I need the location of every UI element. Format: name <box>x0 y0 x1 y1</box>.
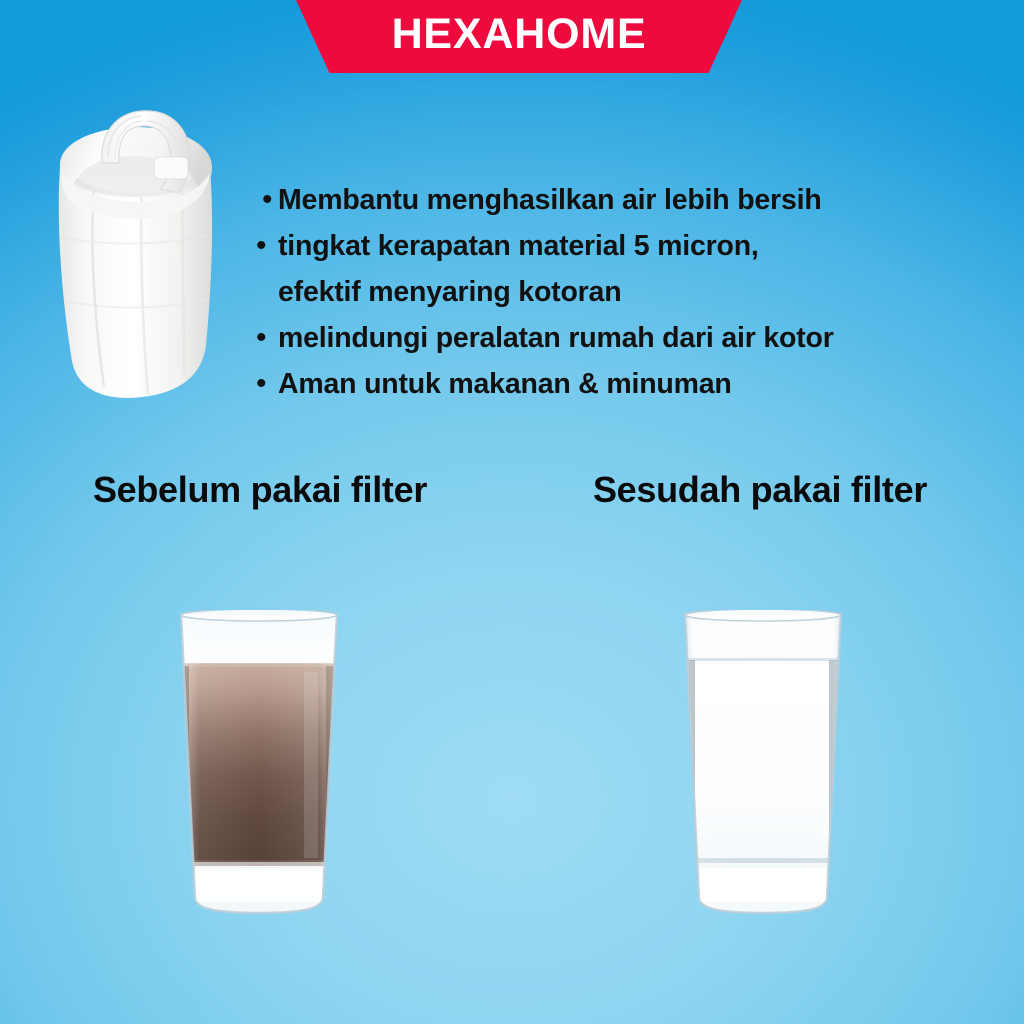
list-item-continuation: efektif menyaring kotoran <box>252 270 992 314</box>
bullet-icon: • <box>252 224 278 268</box>
list-item: • Aman untuk makanan & minuman <box>252 362 992 406</box>
caption-before-filter: Sebelum pakai filter <box>80 463 440 516</box>
list-item: • Membantu menghasilkan air lebih bersih <box>252 178 992 222</box>
glass-clean-water-icon <box>680 610 846 918</box>
feature-list: • Membantu menghasilkan air lebih bersih… <box>252 178 992 408</box>
filter-bag-icon <box>38 105 250 405</box>
caption-after-filter: Sesudah pakai filter <box>580 463 940 516</box>
bullet-icon: • <box>252 362 278 406</box>
header-banner: HEXAHOME <box>0 0 1024 76</box>
feature-text: tingkat kerapatan material 5 micron, <box>278 224 992 268</box>
glass-dirty-water-icon <box>176 610 342 918</box>
feature-text: efektif menyaring kotoran <box>278 270 992 314</box>
promo-poster: HEXAHOME <box>0 0 1024 1024</box>
list-item: • melindungi peralatan rumah dari air ko… <box>252 316 992 360</box>
feature-text: Membantu menghasilkan air lebih bersih <box>278 178 992 222</box>
list-item: • tingkat kerapatan material 5 micron, <box>252 224 992 268</box>
bullet-icon: • <box>252 178 278 222</box>
feature-text: melindungi peralatan rumah dari air koto… <box>278 316 992 360</box>
brand-title: HEXAHOME <box>296 0 742 73</box>
feature-text: Aman untuk makanan & minuman <box>278 362 992 406</box>
bullet-icon: • <box>252 316 278 360</box>
